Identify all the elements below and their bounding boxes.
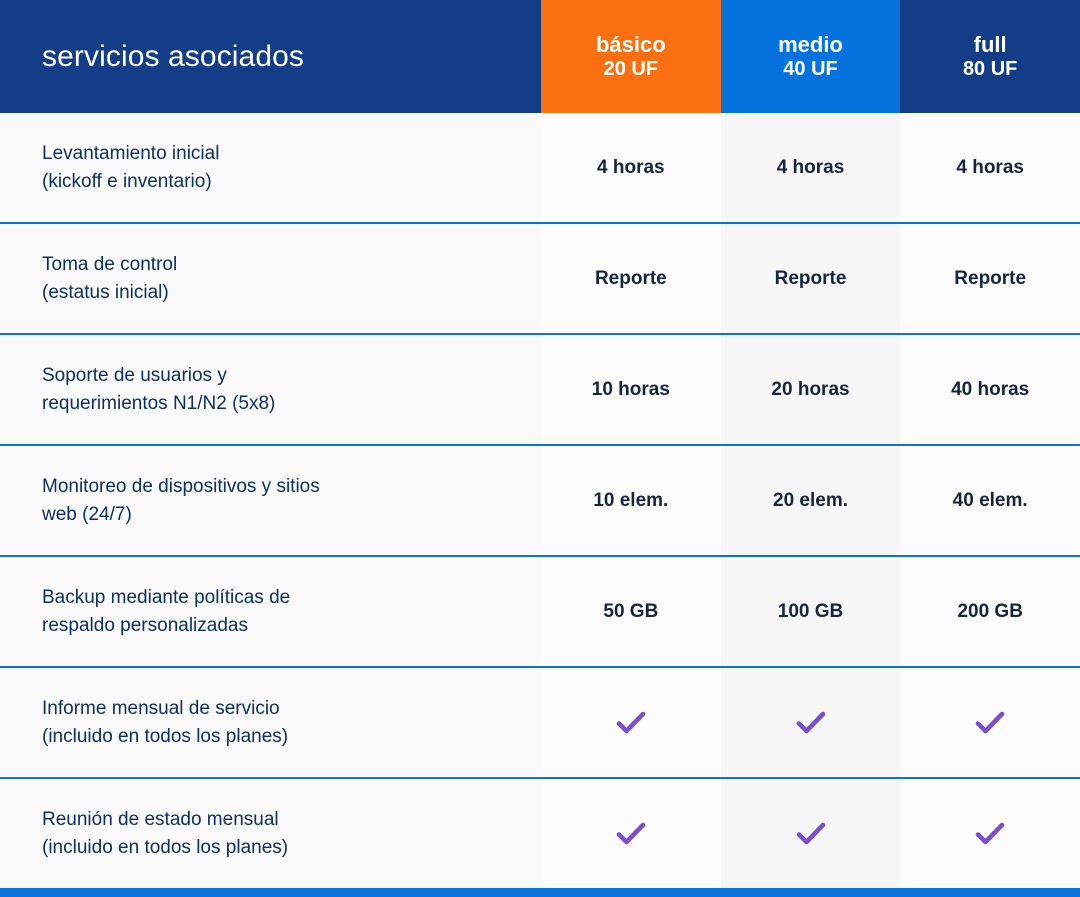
value-cell-basico — [541, 668, 721, 777]
check-icon — [616, 821, 646, 847]
feature-label-cell: Reunión de estado mensual (incluido en t… — [0, 779, 541, 888]
feature-label: Monitoreo de dispositivos y sitios web (… — [42, 473, 320, 528]
value-cell-basico: 10 horas — [541, 335, 721, 444]
value-cell-full: 40 horas — [900, 335, 1080, 444]
plan-price-medio: 40 UF — [783, 58, 837, 82]
plan-name-medio: medio — [778, 32, 843, 58]
check-icon — [796, 821, 826, 847]
table-footer-bar — [0, 888, 1080, 897]
value-cell-full: 40 elem. — [900, 446, 1080, 555]
value-cell-medio: 100 GB — [721, 557, 901, 666]
value-cell-medio — [721, 779, 901, 888]
plan-column-header-basico[interactable]: básico 20 UF — [541, 0, 721, 113]
value-cell-basico: 50 GB — [541, 557, 721, 666]
check-icon — [975, 710, 1005, 736]
check-icon — [975, 821, 1005, 847]
feature-label: Soporte de usuarios y requerimientos N1/… — [42, 362, 275, 417]
feature-label: Levantamiento inicial (kickoff e inventa… — [42, 140, 219, 195]
feature-label: Toma de control (estatus inicial) — [42, 251, 177, 306]
value-cell-full: 4 horas — [900, 113, 1080, 222]
value-cell-basico: 4 horas — [541, 113, 721, 222]
feature-label: Backup mediante políticas de respaldo pe… — [42, 584, 290, 639]
pricing-comparison-table: servicios asociados básico 20 UF medio 4… — [0, 0, 1080, 897]
plan-column-header-medio[interactable]: medio 40 UF — [721, 0, 901, 113]
plan-price-full: 80 UF — [963, 58, 1017, 82]
table-row: Toma de control (estatus inicial) Report… — [0, 224, 1080, 335]
value-cell-basico — [541, 779, 721, 888]
value-cell-medio — [721, 668, 901, 777]
table-header-row: servicios asociados básico 20 UF medio 4… — [0, 0, 1080, 113]
value-cell-medio: 4 horas — [721, 113, 901, 222]
table-row: Soporte de usuarios y requerimientos N1/… — [0, 335, 1080, 446]
plan-price-basico: 20 UF — [604, 58, 658, 82]
value-cell-medio: Reporte — [721, 224, 901, 333]
check-icon — [796, 710, 826, 736]
feature-label-cell: Monitoreo de dispositivos y sitios web (… — [0, 446, 541, 555]
feature-label: Informe mensual de servicio (incluido en… — [42, 695, 288, 750]
table-row: Informe mensual de servicio (incluido en… — [0, 668, 1080, 779]
plan-name-basico: básico — [596, 32, 666, 58]
table-row: Monitoreo de dispositivos y sitios web (… — [0, 446, 1080, 557]
value-cell-full: 200 GB — [900, 557, 1080, 666]
table-title-cell: servicios asociados — [0, 0, 541, 113]
feature-label-cell: Informe mensual de servicio (incluido en… — [0, 668, 541, 777]
value-cell-basico: 10 elem. — [541, 446, 721, 555]
feature-label-cell: Soporte de usuarios y requerimientos N1/… — [0, 335, 541, 444]
table-row: Reunión de estado mensual (incluido en t… — [0, 779, 1080, 888]
page-title: servicios asociados — [42, 40, 304, 73]
table-row: Levantamiento inicial (kickoff e inventa… — [0, 113, 1080, 224]
table-body: Levantamiento inicial (kickoff e inventa… — [0, 113, 1080, 888]
table-row: Backup mediante políticas de respaldo pe… — [0, 557, 1080, 668]
feature-label-cell: Toma de control (estatus inicial) — [0, 224, 541, 333]
value-cell-basico: Reporte — [541, 224, 721, 333]
plan-column-header-full[interactable]: full 80 UF — [900, 0, 1080, 113]
feature-label: Reunión de estado mensual (incluido en t… — [42, 806, 288, 861]
feature-label-cell: Levantamiento inicial (kickoff e inventa… — [0, 113, 541, 222]
value-cell-full — [900, 779, 1080, 888]
value-cell-full — [900, 668, 1080, 777]
value-cell-medio: 20 horas — [721, 335, 901, 444]
plan-name-full: full — [974, 32, 1007, 58]
value-cell-full: Reporte — [900, 224, 1080, 333]
check-icon — [616, 710, 646, 736]
value-cell-medio: 20 elem. — [721, 446, 901, 555]
feature-label-cell: Backup mediante políticas de respaldo pe… — [0, 557, 541, 666]
